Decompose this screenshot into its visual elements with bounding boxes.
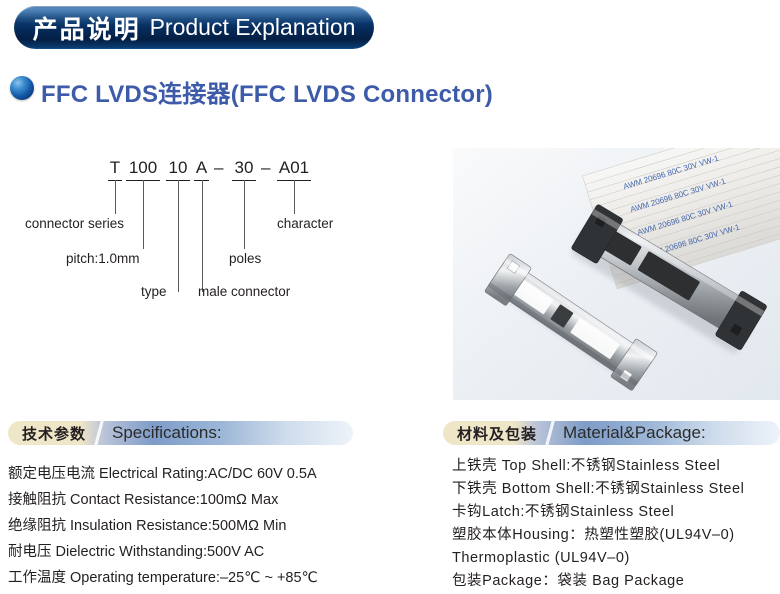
material-item: 上铁壳 Top Shell:不锈钢Stainless Steel bbox=[452, 455, 780, 478]
material-item: 包装Package：袋装 Bag Package bbox=[452, 570, 780, 593]
product-photo: AWM 20696 80C 30V VW-1 AWM 20696 80C 30V… bbox=[453, 148, 780, 400]
part-number-label: type bbox=[141, 284, 167, 299]
material-band-cn: 材料及包装 bbox=[457, 421, 537, 445]
part-number-label: character bbox=[277, 216, 333, 231]
blue-sphere-icon bbox=[10, 76, 34, 100]
part-number-dash: – bbox=[214, 158, 223, 178]
leader-line bbox=[115, 180, 116, 214]
part-number-segment: 10 bbox=[166, 158, 190, 181]
page-title-en: Product Explanation bbox=[150, 14, 356, 41]
specification-item: 工作温度 Operating temperature:–25℃ ~ +85℃ bbox=[8, 565, 428, 591]
product-title: FFC LVDS连接器(FFC LVDS Connector) bbox=[41, 74, 493, 109]
band-slash-divider bbox=[92, 421, 106, 445]
part-number-segment: 100 bbox=[126, 158, 160, 181]
material-band-en: Material&Package: bbox=[563, 421, 706, 445]
material-item: 下铁壳 Bottom Shell:不锈钢Stainless Steel bbox=[452, 478, 780, 501]
specifications-band-cn: 技术参数 bbox=[22, 421, 86, 445]
leader-line bbox=[143, 180, 144, 249]
material-list: 上铁壳 Top Shell:不锈钢Stainless Steel下铁壳 Bott… bbox=[452, 455, 780, 593]
part-number-label: connector series bbox=[25, 216, 124, 231]
part-number-dash: – bbox=[261, 158, 270, 178]
specifications-band: 技术参数 Specifications: bbox=[8, 421, 353, 445]
part-number-segment: T bbox=[108, 158, 122, 181]
part-number-label: pitch:1.0mm bbox=[66, 251, 140, 266]
product-photo-image: AWM 20696 80C 30V VW-1 AWM 20696 80C 30V… bbox=[453, 148, 780, 400]
specification-item: 接触阻抗 Contact Resistance:100mΩ Max bbox=[8, 487, 428, 513]
leader-line bbox=[202, 180, 203, 292]
leader-line bbox=[294, 180, 295, 214]
part-number-segment: A01 bbox=[277, 158, 311, 181]
page-title-banner: 产品说明 Product Explanation bbox=[14, 6, 374, 49]
leader-line bbox=[244, 180, 245, 249]
part-number-label: male connector bbox=[198, 284, 290, 299]
specification-item: 额定电压电流 Electrical Rating:AC/DC 60V 0.5A bbox=[8, 461, 428, 487]
part-number-diagram: T10010A30A01––connector seriescharacterp… bbox=[0, 140, 430, 325]
specifications-band-en: Specifications: bbox=[112, 421, 222, 445]
specifications-list: 额定电压电流 Electrical Rating:AC/DC 60V 0.5A接… bbox=[8, 461, 428, 591]
material-item: Thermoplastic (UL94V–0) bbox=[452, 547, 780, 570]
page-title-text: 产品说明 Product Explanation bbox=[14, 6, 374, 49]
product-explanation-page: 产品说明 Product Explanation FFC LVDS连接器(FFC… bbox=[0, 0, 780, 594]
material-band: 材料及包装 Material&Package: bbox=[443, 421, 780, 445]
part-number-label: poles bbox=[229, 251, 261, 266]
part-number-segment: A bbox=[194, 158, 209, 181]
page-title-cn: 产品说明 bbox=[33, 10, 141, 46]
leader-line bbox=[178, 180, 179, 292]
material-item: 塑胶本体Housing：热塑性塑胶(UL94V–0) bbox=[452, 524, 780, 547]
specification-item: 耐电压 Dielectric Withstanding:500V AC bbox=[8, 539, 428, 565]
band-slash-divider bbox=[543, 421, 557, 445]
part-number-segment: 30 bbox=[232, 158, 256, 181]
specification-item: 绝缘阻抗 Insulation Resistance:500MΩ Min bbox=[8, 513, 428, 539]
material-item: 卡钩Latch:不锈钢Stainless Steel bbox=[452, 501, 780, 524]
